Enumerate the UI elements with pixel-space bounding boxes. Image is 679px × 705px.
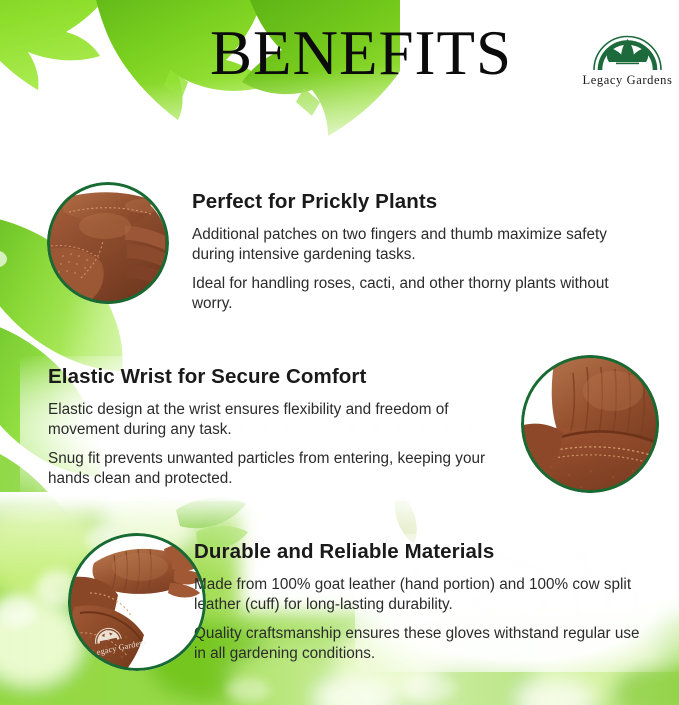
benefit-photo-prickly-plants <box>47 182 169 304</box>
brand-name: Legacy Gardens <box>576 73 679 88</box>
benefit-photo-elastic-wrist <box>521 355 659 493</box>
brand-logo: Legacy Gardens <box>576 28 679 94</box>
benefit-heading: Elastic Wrist for Secure Comfort <box>48 365 508 389</box>
benefit-paragraph: Ideal for handling roses, cacti, and oth… <box>192 274 642 313</box>
benefit-block-durable-materials: Durable and Reliable Materials Made from… <box>194 540 644 663</box>
benefits-infographic: BENEFITS Legacy Gardens <box>0 0 679 705</box>
benefit-heading: Durable and Reliable Materials <box>194 540 644 564</box>
benefit-heading: Perfect for Prickly Plants <box>192 190 642 214</box>
benefit-paragraph: Quality craftsmanship ensures these glov… <box>194 624 644 663</box>
leaf-arch-logo-icon <box>576 28 679 72</box>
benefit-paragraph: Snug fit prevents unwanted particles fro… <box>48 449 508 488</box>
glove-palm-photo <box>47 182 169 304</box>
benefit-paragraph: Elastic design at the wrist ensures flex… <box>48 400 508 439</box>
benefit-block-prickly-plants: Perfect for Prickly Plants Additional pa… <box>192 190 642 313</box>
benefit-paragraph: Made from 100% goat leather (hand portio… <box>194 575 644 614</box>
benefit-block-elastic-wrist: Elastic Wrist for Secure Comfort Elastic… <box>48 365 508 488</box>
benefit-paragraph: Additional patches on two fingers and th… <box>192 225 642 264</box>
page-title: BENEFITS <box>196 22 526 85</box>
benefit-photo-durable-materials: Legacy Gardens <box>68 533 206 671</box>
glove-elastic-wrist-photo <box>521 355 659 493</box>
